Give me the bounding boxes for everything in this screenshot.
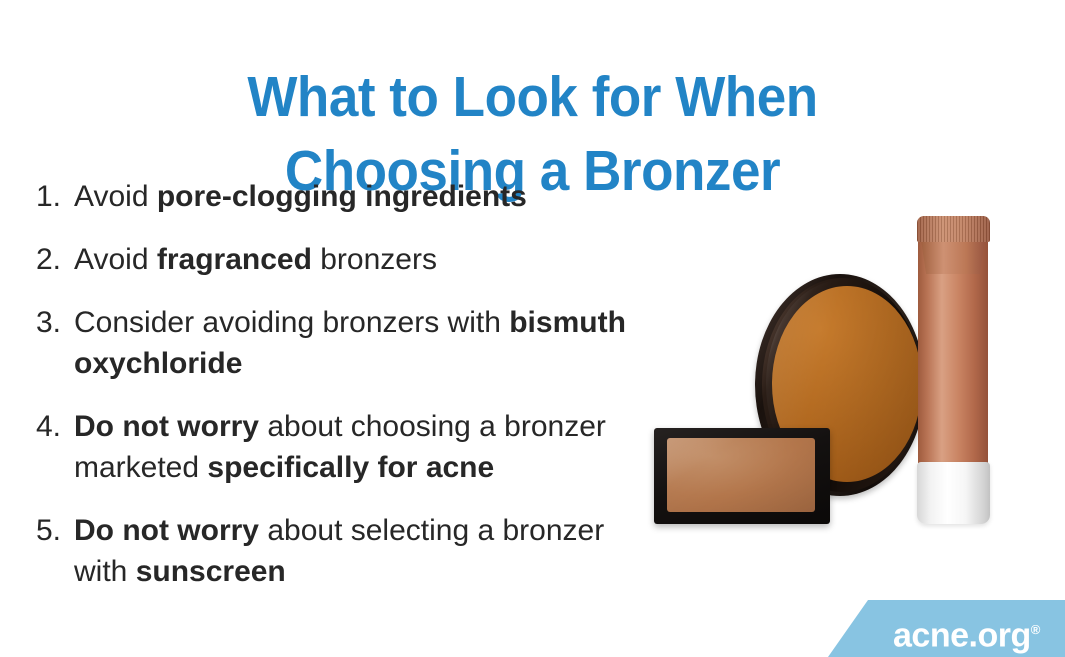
- list-item: 4.Do not worry about choosing a bronzer …: [36, 406, 636, 488]
- list-item-number: 1.: [36, 176, 74, 217]
- list-item-number: 5.: [36, 510, 74, 551]
- list-item: 5.Do not worry about selecting a bronzer…: [36, 510, 636, 592]
- list-item-text: Avoid fragranced bronzers: [74, 239, 636, 280]
- list-item-plain: Avoid: [74, 180, 157, 213]
- squeeze-tube-crimp: [917, 216, 990, 242]
- list-item-number: 4.: [36, 406, 74, 447]
- list-item-text: Consider avoiding bronzers with bismuth …: [74, 302, 636, 384]
- list-item-number: 2.: [36, 239, 74, 280]
- squeeze-tube-cap: [917, 462, 990, 524]
- tips-list: 1.Avoid pore-clogging ingredients2.Avoid…: [36, 176, 636, 614]
- list-item-emphasis: specifically for acne: [207, 451, 494, 484]
- list-item-emphasis: Do not worry: [74, 410, 259, 443]
- list-item-emphasis: pore-clogging ingredients: [157, 180, 527, 213]
- list-item-emphasis: sunscreen: [136, 555, 286, 588]
- list-item-text: Avoid pore-clogging ingredients: [74, 176, 636, 217]
- list-item-plain: bronzers: [312, 243, 437, 276]
- page-title-line-1: What to Look for When: [37, 60, 1027, 134]
- infographic-canvas: What to Look for When Choosing a Bronzer…: [0, 0, 1065, 657]
- list-item-text: Do not worry about choosing a bronzer ma…: [74, 406, 636, 488]
- list-item-number: 3.: [36, 302, 74, 343]
- brand-logo-text: acne.org: [893, 616, 1031, 654]
- product-illustration: [640, 206, 1040, 546]
- list-item-emphasis: fragranced: [157, 243, 312, 276]
- list-item-text: Do not worry about selecting a bronzer w…: [74, 510, 636, 592]
- list-item-plain: Avoid: [74, 243, 157, 276]
- list-item: 1.Avoid pore-clogging ingredients: [36, 176, 636, 217]
- list-item: 3.Consider avoiding bronzers with bismut…: [36, 302, 636, 384]
- list-item: 2.Avoid fragranced bronzers: [36, 239, 636, 280]
- registered-trademark-icon: ®: [1031, 622, 1040, 637]
- squeeze-tube-taper: [921, 240, 985, 274]
- brand-logo[interactable]: acne.org®: [893, 611, 1040, 654]
- rectangular-compact-pan-gloss: [667, 438, 815, 512]
- list-item-plain: Consider avoiding bronzers with: [74, 306, 509, 339]
- list-item-emphasis: Do not worry: [74, 514, 259, 547]
